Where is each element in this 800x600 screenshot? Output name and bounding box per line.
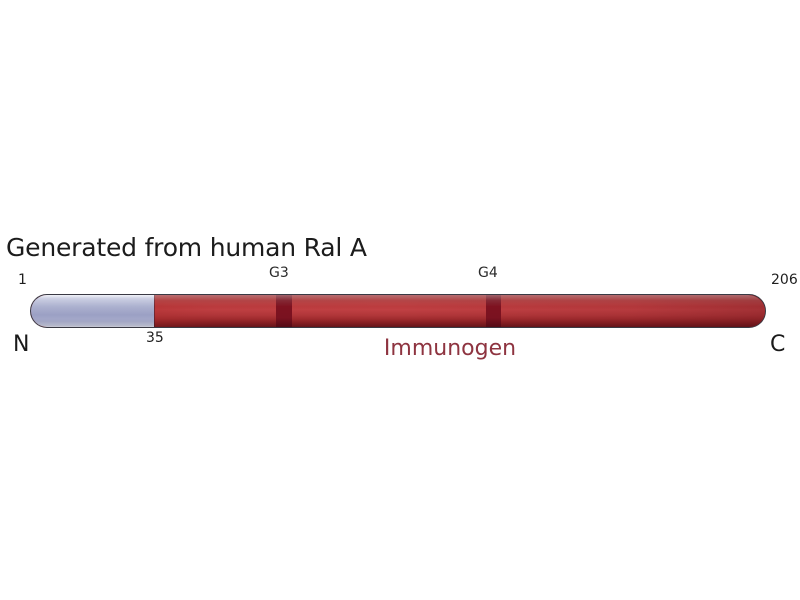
protein-domain-figure: Generated from human Ral A 1 206 G3 G4 3… (0, 0, 800, 600)
figure-title: Generated from human Ral A (6, 233, 367, 263)
residue-label-immunogen-start: 35 (146, 330, 164, 346)
terminus-label-n: N (13, 332, 29, 358)
motif-label-g4: G4 (478, 265, 498, 281)
residue-label-end: 206 (771, 272, 798, 288)
motif-marker-g3 (276, 295, 292, 327)
residue-label-start: 1 (18, 272, 27, 288)
domain-segment-n-terminal (31, 295, 154, 327)
protein-bar-body (30, 294, 766, 328)
protein-bar (30, 294, 766, 328)
domain-boundary-35 (154, 295, 155, 327)
terminus-label-c: C (770, 332, 785, 358)
immunogen-caption: Immunogen (355, 336, 545, 362)
motif-marker-g4 (486, 295, 501, 327)
motif-label-g3: G3 (269, 265, 289, 281)
domain-segment-immunogen (154, 295, 766, 327)
